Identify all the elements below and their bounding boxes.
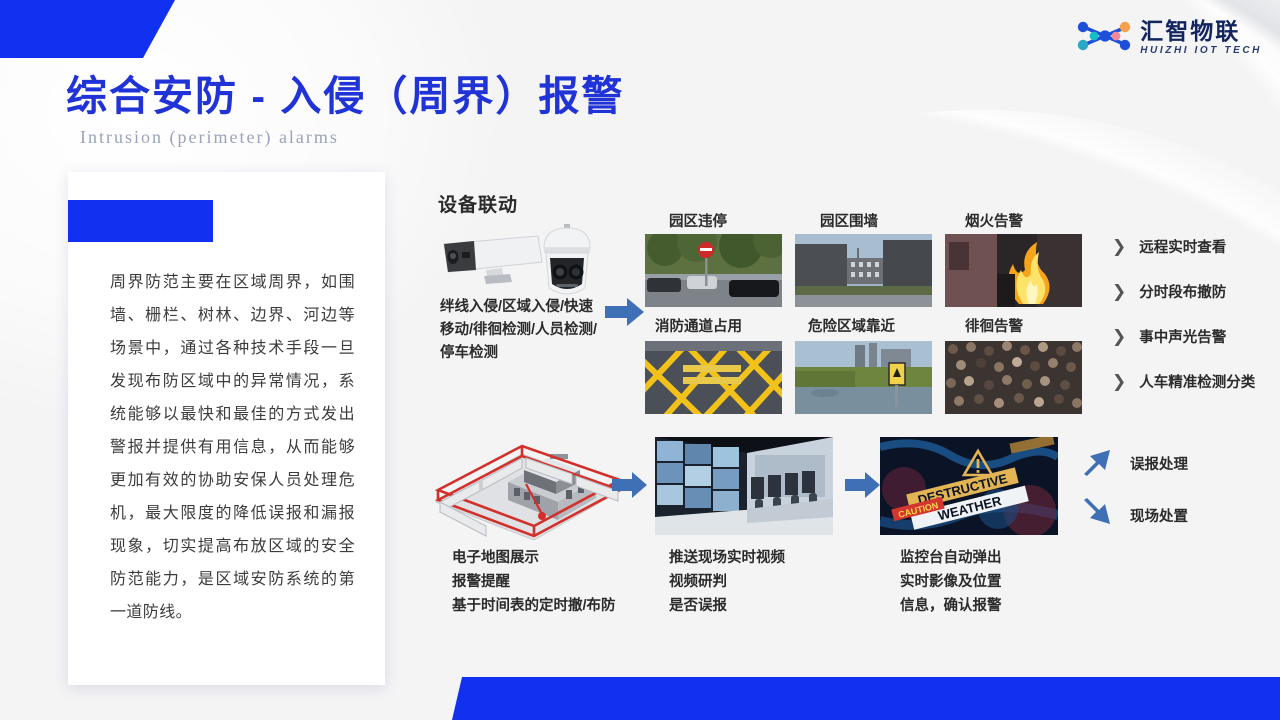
scene-image-perimeter-wall xyxy=(795,234,932,307)
flow-arrow-right-1 xyxy=(605,296,645,333)
console-alert-image: DESTRUCTIVE WEATHER CAUTION xyxy=(880,437,1058,535)
scene-image-parking-violation xyxy=(645,234,782,307)
flow-caption-video-line-1: 视频研判 xyxy=(669,570,785,594)
arrow-down-right-icon xyxy=(1082,498,1116,533)
flow-arrow-right-2 xyxy=(612,470,648,505)
outcome-label-1: 现场处置 xyxy=(1130,505,1188,526)
card-tag-badge xyxy=(68,200,213,242)
scene-image-fire-lane xyxy=(645,341,782,414)
scene-image-hazard-waterside xyxy=(795,341,932,414)
flow-caption-map-line-0: 电子地图展示 xyxy=(452,546,616,570)
logo-name-en: HUIZHI IOT TECH xyxy=(1140,44,1262,58)
scene-grid: 园区违停 园区围墙 烟火告警 xyxy=(645,210,1085,415)
flow-caption-map: 电子地图展示 报警提醒 基于时间表的定时撤/布防 xyxy=(452,546,616,618)
flow-caption-video-line-0: 推送现场实时视频 xyxy=(669,546,785,570)
capability-label-2: 事中声光告警 xyxy=(1139,326,1226,347)
arrow-up-right-icon xyxy=(1082,446,1116,481)
chevron-right-icon: ❯ xyxy=(1112,372,1126,392)
capability-item-0[interactable]: ❯ 远程实时查看 xyxy=(1112,236,1280,257)
scene-label-5: 徘徊告警 xyxy=(965,315,1023,336)
flow-caption-console-line-0: 监控台自动弹出 xyxy=(900,546,1002,570)
site-map-3d-image xyxy=(430,432,628,544)
flow-caption-video: 推送现场实时视频 视频研判 是否误报 xyxy=(669,546,785,618)
scene-image-fire-smoke xyxy=(945,234,1082,307)
flow-arrow-right-3 xyxy=(845,470,881,505)
capability-label-0: 远程实时查看 xyxy=(1139,236,1226,257)
flow-caption-video-line-2: 是否误报 xyxy=(669,594,785,618)
bullet-camera-icon xyxy=(444,236,542,284)
page-subtitle: Intrusion (perimeter) alarms xyxy=(80,127,339,148)
video-wall-image xyxy=(655,437,833,535)
flow-caption-map-line-2: 基于时间表的定时撤/布防 xyxy=(452,594,616,618)
device-icons-group xyxy=(426,222,611,302)
scene-label-3: 消防通道占用 xyxy=(655,315,742,336)
flow-caption-console: 监控台自动弹出 实时影像及位置 信息，确认报警 xyxy=(900,546,1002,618)
capability-item-1[interactable]: ❯ 分时段布撤防 xyxy=(1112,281,1280,302)
scene-image-crowd-loitering xyxy=(945,341,1082,414)
chevron-right-icon: ❯ xyxy=(1112,327,1126,347)
section-title-device-linkage: 设备联动 xyxy=(438,190,518,217)
device-caption: 绊线入侵/区域入侵/快速移动/徘徊检测/人员检测/停车检测 xyxy=(440,296,605,365)
page-title: 综合安防 - 入侵（周界）报警 xyxy=(66,62,624,122)
scene-label-2: 烟火告警 xyxy=(965,210,1023,231)
flow-caption-console-line-1: 实时影像及位置 xyxy=(900,570,1002,594)
capability-item-2[interactable]: ❯ 事中声光告警 xyxy=(1112,326,1280,347)
brand-logo: 汇智物联 HUIZHI IOT TECH xyxy=(1076,16,1262,61)
slide-root: 汇智物联 HUIZHI IOT TECH 综合安防 - 入侵（周界）报警 Int… xyxy=(0,0,1280,720)
logo-text-block: 汇智物联 HUIZHI IOT TECH xyxy=(1140,19,1262,58)
molecule-node-icon xyxy=(1076,16,1134,61)
scene-label-0: 园区违停 xyxy=(669,210,727,231)
scene-label-4: 危险区域靠近 xyxy=(808,315,895,336)
flow-caption-console-line-2: 信息，确认报警 xyxy=(900,594,1002,618)
capability-list: ❯ 远程实时查看 ❯ 分时段布撤防 ❯ 事中声光告警 ❯ 人车精准检测分类 xyxy=(1112,236,1280,416)
card-paragraph: 周界防范主要在区域周界，如围墙、栅栏、树林、边界、河边等场景中，通过各种技术手段… xyxy=(110,266,355,629)
chevron-right-icon: ❯ xyxy=(1112,282,1126,302)
capability-label-1: 分时段布撤防 xyxy=(1139,281,1226,302)
description-card: 周界防范主要在区域周界，如围墙、栅栏、树林、边界、河边等场景中，通过各种技术手段… xyxy=(68,172,385,685)
logo-name-cn: 汇智物联 xyxy=(1140,19,1262,44)
outcome-label-0: 误报处理 xyxy=(1130,453,1188,474)
flow-caption-map-line-1: 报警提醒 xyxy=(452,570,616,594)
outcome-list: 误报处理 现场处置 xyxy=(1082,440,1280,532)
ptz-dome-camera-icon xyxy=(544,224,590,294)
chevron-right-icon: ❯ xyxy=(1112,237,1126,257)
outcome-item-1[interactable]: 现场处置 xyxy=(1082,498,1188,533)
capability-item-3[interactable]: ❯ 人车精准检测分类 xyxy=(1112,371,1280,392)
capability-label-3: 人车精准检测分类 xyxy=(1139,371,1255,392)
scene-label-1: 园区围墙 xyxy=(820,210,878,231)
outcome-item-0[interactable]: 误报处理 xyxy=(1082,446,1188,481)
